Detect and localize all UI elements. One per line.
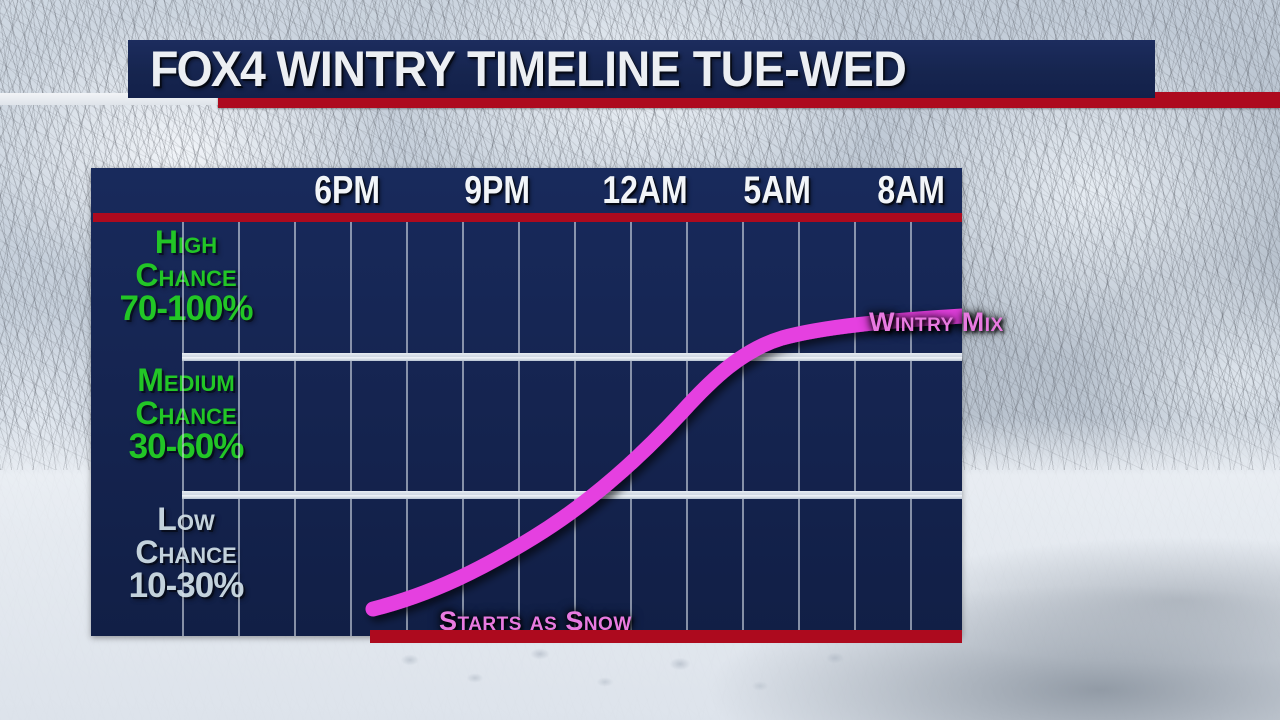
time-label-6pm: 6PM [314, 171, 380, 210]
time-label-8am: 8AM [877, 171, 945, 210]
footprints-in-snow [380, 640, 900, 710]
fox4-logo-text: FOX4 [150, 41, 264, 97]
time-axis-header: 6PM 9PM 12AM 5AM 8AM [91, 168, 962, 217]
title-headline-text: WINTRY TIMELINE TUE-WED [276, 41, 906, 97]
annotation-wintry-mix: Wintry Mix [869, 307, 1004, 338]
time-label-12am: 12AM [602, 171, 687, 210]
plot-area: Wintry Mix Starts as Snow [281, 222, 962, 636]
chart-bottom-red-bar [370, 630, 962, 643]
time-label-5am: 5AM [743, 171, 811, 210]
curve-path [373, 316, 962, 609]
page-title: FOX4 WINTRY TIMELINE TUE-WED [150, 44, 906, 94]
time-label-9pm: 9PM [464, 171, 530, 210]
header-red-divider [93, 213, 962, 222]
wintry-timeline-chart: 6PM 9PM 12AM 5AM 8AM High Chance 70-100%… [91, 168, 962, 636]
title-banner: FOX4 WINTRY TIMELINE TUE-WED [128, 40, 1155, 98]
precipitation-chance-curve [182, 222, 962, 636]
